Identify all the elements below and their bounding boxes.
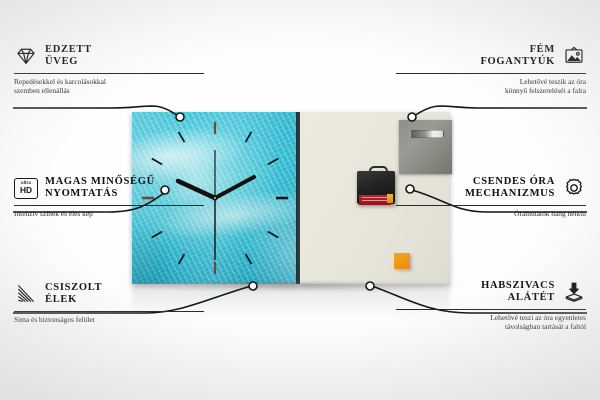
feature-header: FÉM FOGANTYÚK [396, 42, 586, 70]
feature-title: CSISZOLT ÉLEK [45, 282, 102, 307]
foam-pad [394, 253, 410, 269]
mechanism-label-text [362, 197, 388, 203]
diamond-icon [14, 44, 38, 68]
feature-title: CSENDES ÓRA MECHANIZMUS [465, 176, 555, 201]
picture-frame-icon [562, 44, 586, 68]
feature-description: Lehetővé teszi az óra egyenletes távolsá… [396, 313, 586, 332]
mechanism-body [357, 171, 395, 204]
feature-title: MAGAS MINŐSÉGŰ NYOMTATÁS [45, 176, 155, 201]
feature-foam-spacer: HABSZIVACS ALÁTÉT Lehetővé teszi az óra … [396, 278, 586, 331]
gear-icon [562, 176, 586, 200]
feature-description: Repedésekkel és karcolásokkal szemben el… [14, 77, 204, 96]
press-pad-icon [562, 280, 586, 304]
feature-divider [396, 73, 586, 74]
feature-description: Intenzív színek és éles kép [14, 209, 204, 218]
hanger-plate [399, 120, 452, 174]
feature-description: Sima és biztonságos felület [14, 315, 204, 324]
feature-divider [396, 309, 586, 310]
feature-title: FÉM FOGANTYÚK [480, 44, 555, 69]
feature-divider [396, 205, 586, 206]
feature-metal-handles: FÉM FOGANTYÚK Lehetővé teszik az óra kön… [396, 42, 586, 95]
hd-badge: ultra HD [14, 178, 38, 199]
feature-header: HABSZIVACS ALÁTÉT [396, 278, 586, 306]
feature-header: ultra HD MAGAS MINŐSÉGŰ NYOMTATÁS [14, 174, 204, 202]
feature-header: CSISZOLT ÉLEK [14, 280, 204, 308]
feature-tempered-glass: EDZETT ÜVEG Repedésekkel és karcolásokka… [14, 42, 204, 95]
hd-main-label: HD [20, 186, 32, 194]
feature-description: Óramutatók hang nélkül [396, 209, 586, 218]
feature-header: EDZETT ÜVEG [14, 42, 204, 70]
feature-divider [14, 311, 204, 312]
feature-description: Lehetővé teszik az óra könnyű felszerelé… [396, 77, 586, 96]
feature-title: HABSZIVACS ALÁTÉT [481, 280, 555, 305]
polished-edge-icon [14, 282, 38, 306]
feature-title: EDZETT ÜVEG [45, 44, 92, 69]
feature-divider [14, 205, 204, 206]
feature-header: CSENDES ÓRA MECHANIZMUS [396, 174, 586, 202]
infographic-canvas: EDZETT ÜVEG Repedésekkel és karcolásokka… [0, 0, 600, 400]
clock-mechanism [357, 166, 395, 204]
feature-high-quality-print: ultra HD MAGAS MINŐSÉGŰ NYOMTATÁS Intenz… [14, 174, 204, 218]
ultra-hd-icon: ultra HD [14, 176, 38, 200]
feature-polished-edges: CSISZOLT ÉLEK Sima és biztonságos felüle… [14, 280, 204, 324]
feature-divider [14, 73, 204, 74]
feature-silent-mechanism: CSENDES ÓRA MECHANIZMUS Óramutatók hang … [396, 174, 586, 218]
hanger-slot [410, 130, 444, 138]
mechanism-chip [387, 194, 393, 203]
